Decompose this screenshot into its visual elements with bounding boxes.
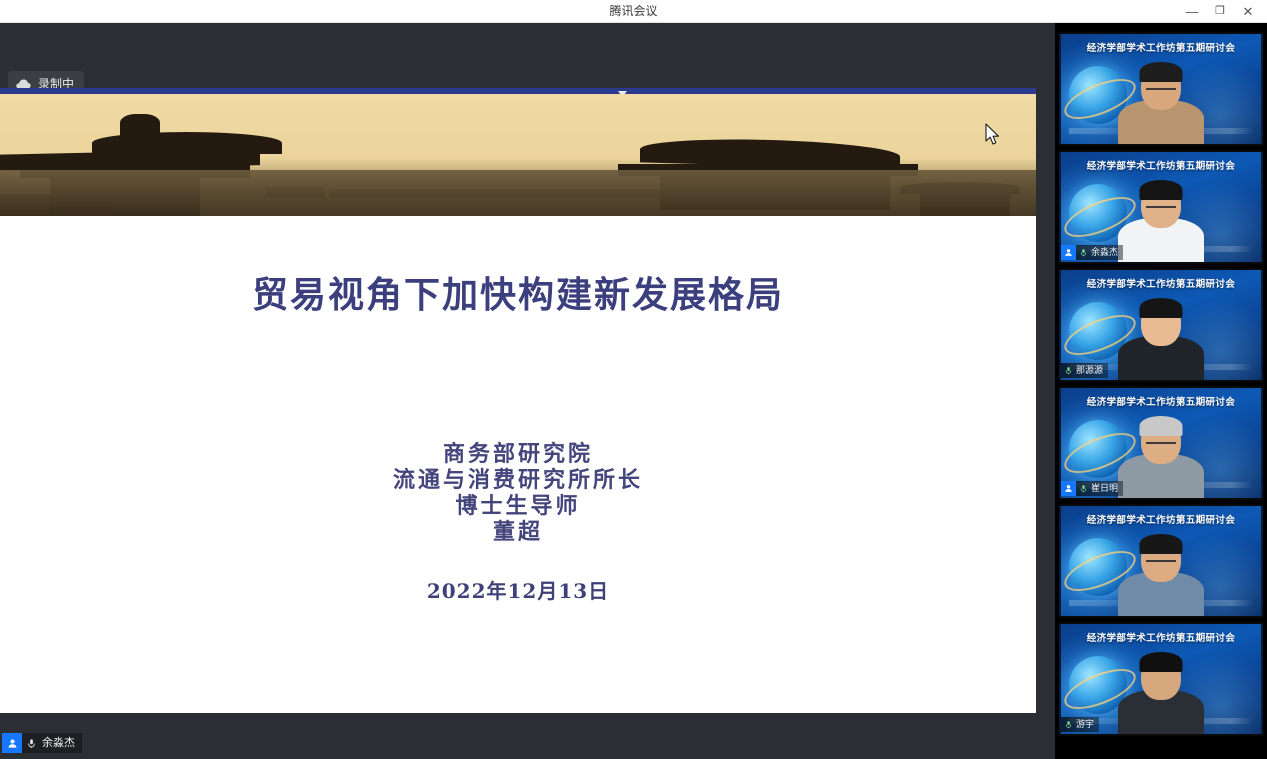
participant-figure <box>1113 302 1209 380</box>
participant-name-chip: 游宇 <box>1061 717 1099 732</box>
window-title: 腾讯会议 <box>0 0 1267 23</box>
participant-name: 崔日明 <box>1090 481 1123 496</box>
slide-subtitle-block: 商务部研究院 流通与消费研究所所长 博士生导师 董超 <box>0 441 1036 545</box>
slide-title: 贸易视角下加快构建新发展格局 <box>0 266 1036 318</box>
person-icon <box>1061 481 1076 496</box>
slide-subtitle-line-3: 博士生导师 <box>0 493 1036 519</box>
slide-banner-photo <box>0 94 1036 216</box>
participant-name: 游宇 <box>1075 717 1099 732</box>
participant-name-chip: 崔日明 <box>1061 481 1123 496</box>
participant-tile[interactable]: 经济学部学术工作坊第五期研讨会 <box>1059 32 1263 146</box>
slide-subtitle-line-2: 流通与消费研究所所长 <box>0 467 1036 493</box>
participant-tile[interactable]: 经济学部学术工作坊第五期研讨会崔日明 <box>1059 386 1263 500</box>
virtual-background-title: 经济学部学术工作坊第五期研讨会 <box>1061 158 1261 172</box>
presentation-slide[interactable]: 贸易视角下加快构建新发展格局 商务部研究院 流通与消费研究所所长 博士生导师 董… <box>0 88 1036 713</box>
shared-content-stage: 录制中 贸易视角下加快构建新发展格局 商务部研究院 流通与消费研究所所长 <box>0 23 1055 759</box>
participant-figure <box>1113 184 1209 262</box>
participant-tile[interactable]: 经济学部学术工作坊第五期研讨会那源源 <box>1059 268 1263 382</box>
participant-figure <box>1113 538 1209 616</box>
slide-subtitle-line-1: 商务部研究院 <box>0 441 1036 467</box>
participant-name-chip: 余淼杰 <box>1061 245 1123 260</box>
microphone-icon <box>22 733 40 753</box>
microphone-icon <box>1076 245 1090 260</box>
virtual-background-title: 经济学部学术工作坊第五期研讨会 <box>1061 276 1261 290</box>
participant-name: 那源源 <box>1075 363 1108 378</box>
virtual-background-title: 经济学部学术工作坊第五期研讨会 <box>1061 40 1261 54</box>
self-participant-chip: 余淼杰 <box>2 733 82 753</box>
person-icon <box>1061 245 1076 260</box>
slide-date: 2022年12月13日 <box>0 575 1036 604</box>
self-participant-name: 余淼杰 <box>40 733 82 753</box>
participant-figure <box>1113 420 1209 498</box>
participant-tile[interactable]: 经济学部学术工作坊第五期研讨会余淼杰 <box>1059 150 1263 264</box>
window-titlebar: 腾讯会议 — ❐ ✕ <box>0 0 1267 23</box>
close-button[interactable]: ✕ <box>1233 0 1263 23</box>
microphone-icon <box>1076 481 1090 496</box>
virtual-background-title: 经济学部学术工作坊第五期研讨会 <box>1061 394 1261 408</box>
participant-tile[interactable]: 经济学部学术工作坊第五期研讨会游宇 <box>1059 622 1263 736</box>
participant-figure <box>1113 656 1209 734</box>
participant-tile[interactable]: 经济学部学术工作坊第五期研讨会 <box>1059 504 1263 618</box>
participant-figure <box>1113 66 1209 144</box>
maximize-button[interactable]: ❐ <box>1205 0 1235 23</box>
participant-video: 经济学部学术工作坊第五期研讨会 <box>1061 506 1261 616</box>
virtual-background-title: 经济学部学术工作坊第五期研讨会 <box>1061 630 1261 644</box>
participant-video: 经济学部学术工作坊第五期研讨会 <box>1061 34 1261 144</box>
microphone-icon <box>1061 363 1075 378</box>
participant-name: 余淼杰 <box>1090 245 1123 260</box>
person-icon <box>2 733 22 753</box>
virtual-background-title: 经济学部学术工作坊第五期研讨会 <box>1061 512 1261 526</box>
microphone-icon <box>1061 717 1075 732</box>
minimize-button[interactable]: — <box>1177 0 1207 23</box>
participant-name-chip: 那源源 <box>1061 363 1108 378</box>
slide-subtitle-line-4: 董超 <box>0 519 1036 545</box>
participant-filmstrip[interactable]: 经济学部学术工作坊第五期研讨会经济学部学术工作坊第五期研讨会余淼杰经济学部学术工… <box>1055 23 1267 759</box>
